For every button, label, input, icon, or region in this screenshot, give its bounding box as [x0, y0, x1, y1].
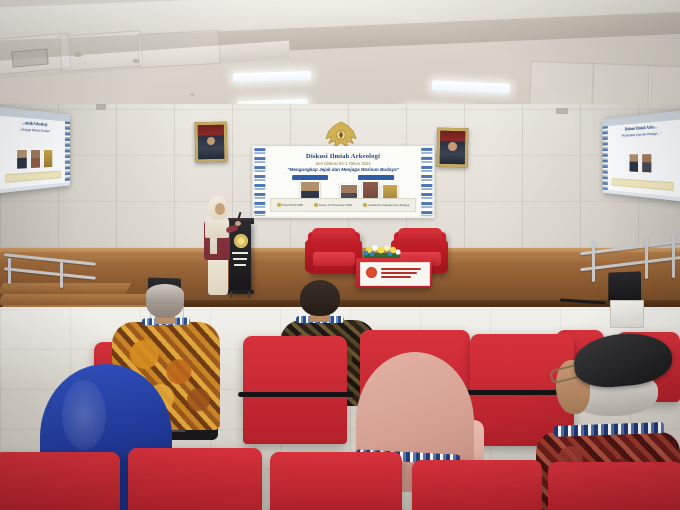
audience-chair [270, 452, 402, 510]
attendee-hair [146, 284, 184, 304]
handrail-post [60, 262, 63, 288]
ceiling-panel [59, 30, 143, 72]
banner-ornament-left [254, 148, 265, 216]
screen-footer-right [612, 178, 674, 191]
presenter-face [215, 203, 225, 215]
auditorium-photo: Diskusi Ilmiah Arkeologi Seri Diskusi Ke… [0, 0, 680, 510]
screen-content-left: ...miah Arkeologi ...Menjaga Warisan Bud… [0, 115, 68, 189]
clock-icon [277, 203, 281, 207]
handrail-post [592, 240, 595, 282]
ceiling-vent [11, 48, 48, 67]
president-portrait [195, 122, 228, 163]
attendee-ear [578, 382, 590, 398]
hijab-highlight [62, 380, 106, 450]
ceiling-panel [529, 61, 595, 109]
screen-ornament-left [65, 121, 70, 182]
audio-speaker-right [608, 271, 641, 302]
screen-ornament-right [603, 126, 608, 190]
presenter-hand [235, 221, 241, 226]
screen-mount-right [556, 108, 568, 114]
screen-photo [43, 149, 53, 168]
projector-screen-left: ...miah Arkeologi ...Menjaga Warisan Bud… [0, 106, 70, 194]
screen-photo [30, 149, 40, 169]
banner-subtitle: Seri Diskusi Ke-1 Tahun 2024 [268, 161, 418, 166]
ceiling-downlight [132, 59, 140, 63]
handrail-post [8, 258, 11, 284]
table-text-line [381, 276, 411, 278]
vice-president-portrait [437, 128, 469, 168]
screen-mount-left [96, 104, 106, 110]
ceiling-downlight [73, 52, 83, 57]
ceiling-downlight [190, 93, 195, 96]
screen-footer-left [5, 171, 60, 183]
table-text-line [381, 268, 421, 270]
location-icon [363, 203, 367, 207]
banner-quote: "Mengungkap Jejak dan Menjaga Warisan Bu… [268, 167, 418, 172]
screen-photo [629, 153, 639, 172]
stage-sofa-back [312, 228, 356, 246]
event-banner: Diskusi Ilmiah Arkeologi Seri Diskusi Ke… [252, 146, 434, 218]
audience-chair [243, 336, 347, 444]
banner-footer: Pukul 09.00 WIB Kamis, 21 November 2024 … [270, 198, 416, 212]
audience-chair [0, 452, 120, 510]
screen-photos-left [5, 149, 60, 170]
banner-footer-venue: Auditorium Fakultas Ilmu Budaya [363, 203, 409, 207]
banner-tag-speakers [358, 175, 394, 180]
banner-ornament-right [421, 148, 432, 216]
audience-chair [128, 448, 262, 510]
screen-photo [641, 153, 652, 173]
podium-leg [248, 292, 250, 298]
banner-footer-date: Kamis, 21 November 2024 [314, 203, 352, 207]
chair-armrest [238, 392, 354, 397]
audience-chair [412, 460, 542, 510]
attendee-head [300, 280, 340, 316]
ceiling-panel [137, 30, 221, 68]
handrail-post [672, 232, 675, 278]
calendar-icon [314, 203, 318, 207]
projector-screen-right: Diskusi Ilmiah Arke... "Mengungkap Jejak… [603, 110, 680, 202]
screen-photo [16, 149, 27, 170]
table-text-line [381, 272, 417, 274]
screen-photos-right [612, 153, 674, 174]
audience-chair [548, 462, 680, 510]
stage-sofa-seat [313, 252, 355, 266]
banner-tag-keynote [292, 175, 328, 180]
banner-title: Diskusi Ilmiah Arkeologi [268, 153, 418, 160]
handrail-post [645, 235, 648, 279]
banner-footer-time: Pukul 09.00 WIB [277, 203, 303, 207]
speaker-stand-right [610, 300, 644, 328]
table-logo-icon [366, 267, 377, 278]
stage-sofa-back [398, 228, 442, 246]
screen-content-right: Diskusi Ilmiah Arke... "Mengungkap Jejak… [605, 119, 680, 197]
